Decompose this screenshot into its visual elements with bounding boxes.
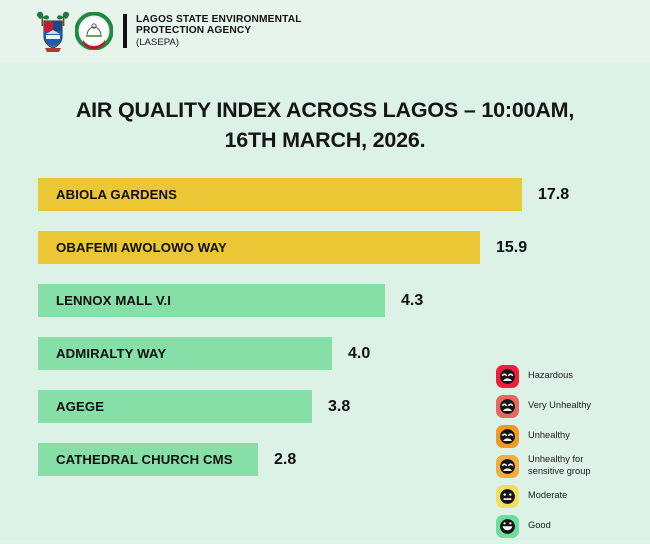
agency-name-block: LAGOS STATE ENVIRONMENTAL PROTECTION AGE…: [136, 14, 302, 49]
chart-bar-row: OBAFEMI AWOLOWO WAY15.9: [0, 231, 650, 284]
legend-icon-very-unhealthy: [496, 395, 519, 418]
chart-bar-value: 4.0: [348, 337, 370, 370]
legend-item[interactable]: Moderate: [496, 484, 646, 508]
legend-item-label: Good: [528, 520, 551, 532]
legend-item-label: Unhealthy forsensitive group: [528, 454, 591, 477]
page-title-line1: AIR QUALITY INDEX ACROSS LAGOS – 10:00AM…: [76, 98, 574, 122]
legend-item[interactable]: Very Unhealthy: [496, 394, 646, 418]
chart-bar[interactable]: CATHEDRAL CHURCH CMS: [38, 443, 258, 476]
chart-bar[interactable]: LENNOX MALL V.I: [38, 284, 385, 317]
chart-bar-label: OBAFEMI AWOLOWO WAY: [38, 240, 227, 255]
legend-item-label: Unhealthy: [528, 430, 570, 442]
chart-bar-value: 2.8: [274, 443, 296, 476]
legend-item[interactable]: Unhealthy: [496, 424, 646, 448]
chart-bar[interactable]: ADMIRALTY WAY: [38, 337, 332, 370]
page-title: AIR QUALITY INDEX ACROSS LAGOS – 10:00AM…: [0, 96, 650, 155]
legend-icon-unhealthy-sensitive: [496, 455, 519, 478]
legend-item-label: Hazardous: [528, 370, 573, 382]
legend-item-label: Moderate: [528, 490, 567, 502]
chart-bar-label: ABIOLA GARDENS: [38, 187, 177, 202]
legend-item[interactable]: Hazardous: [496, 364, 646, 388]
aqi-legend: HazardousVery UnhealthyUnhealthyUnhealth…: [496, 364, 646, 544]
chart-bar-label: CATHEDRAL CHURCH CMS: [38, 452, 233, 467]
legend-item[interactable]: Good: [496, 514, 646, 538]
chart-bar-value: 17.8: [538, 178, 569, 211]
legend-item-label: Very Unhealthy: [528, 400, 591, 412]
chart-bar-value: 3.8: [328, 390, 350, 423]
chart-bar[interactable]: OBAFEMI AWOLOWO WAY: [38, 231, 480, 264]
air-quality-infographic: LASEPA LAGOS STATE ENVIRONMENTAL PROTECT…: [0, 0, 650, 540]
header-bar: LASEPA LAGOS STATE ENVIRONMENTAL PROTECT…: [0, 0, 650, 62]
agency-name-line1: LAGOS STATE ENVIRONMENTAL: [136, 14, 302, 25]
legend-icon-moderate: [496, 485, 519, 508]
legend-icon-good: [496, 515, 519, 538]
lasepa-seal-icon: LASEPA: [75, 12, 113, 50]
chart-bar-label: ADMIRALTY WAY: [38, 346, 166, 361]
chart-bar-value: 4.3: [401, 284, 423, 317]
chart-bar-row: LENNOX MALL V.I4.3: [0, 284, 650, 337]
svg-text:LASEPA: LASEPA: [85, 39, 103, 44]
header-divider: [123, 14, 127, 48]
chart-bar-label: LENNOX MALL V.I: [38, 293, 171, 308]
page-title-line2: 16TH MARCH, 2026.: [0, 126, 650, 156]
legend-item[interactable]: Unhealthy forsensitive group: [496, 454, 646, 478]
agency-name-line2: PROTECTION AGENCY: [136, 25, 302, 36]
chart-bar-value: 15.9: [496, 231, 527, 264]
chart-bar[interactable]: ABIOLA GARDENS: [38, 178, 522, 211]
legend-icon-hazardous: [496, 365, 519, 388]
legend-icon-unhealthy: [496, 425, 519, 448]
agency-abbreviation: (LASEPA): [136, 38, 302, 49]
chart-bar[interactable]: AGEGE: [38, 390, 312, 423]
lagos-state-coat-of-arms-icon: [33, 9, 73, 53]
chart-bar-label: AGEGE: [38, 399, 104, 414]
chart-bar-row: ABIOLA GARDENS17.8: [0, 178, 650, 231]
